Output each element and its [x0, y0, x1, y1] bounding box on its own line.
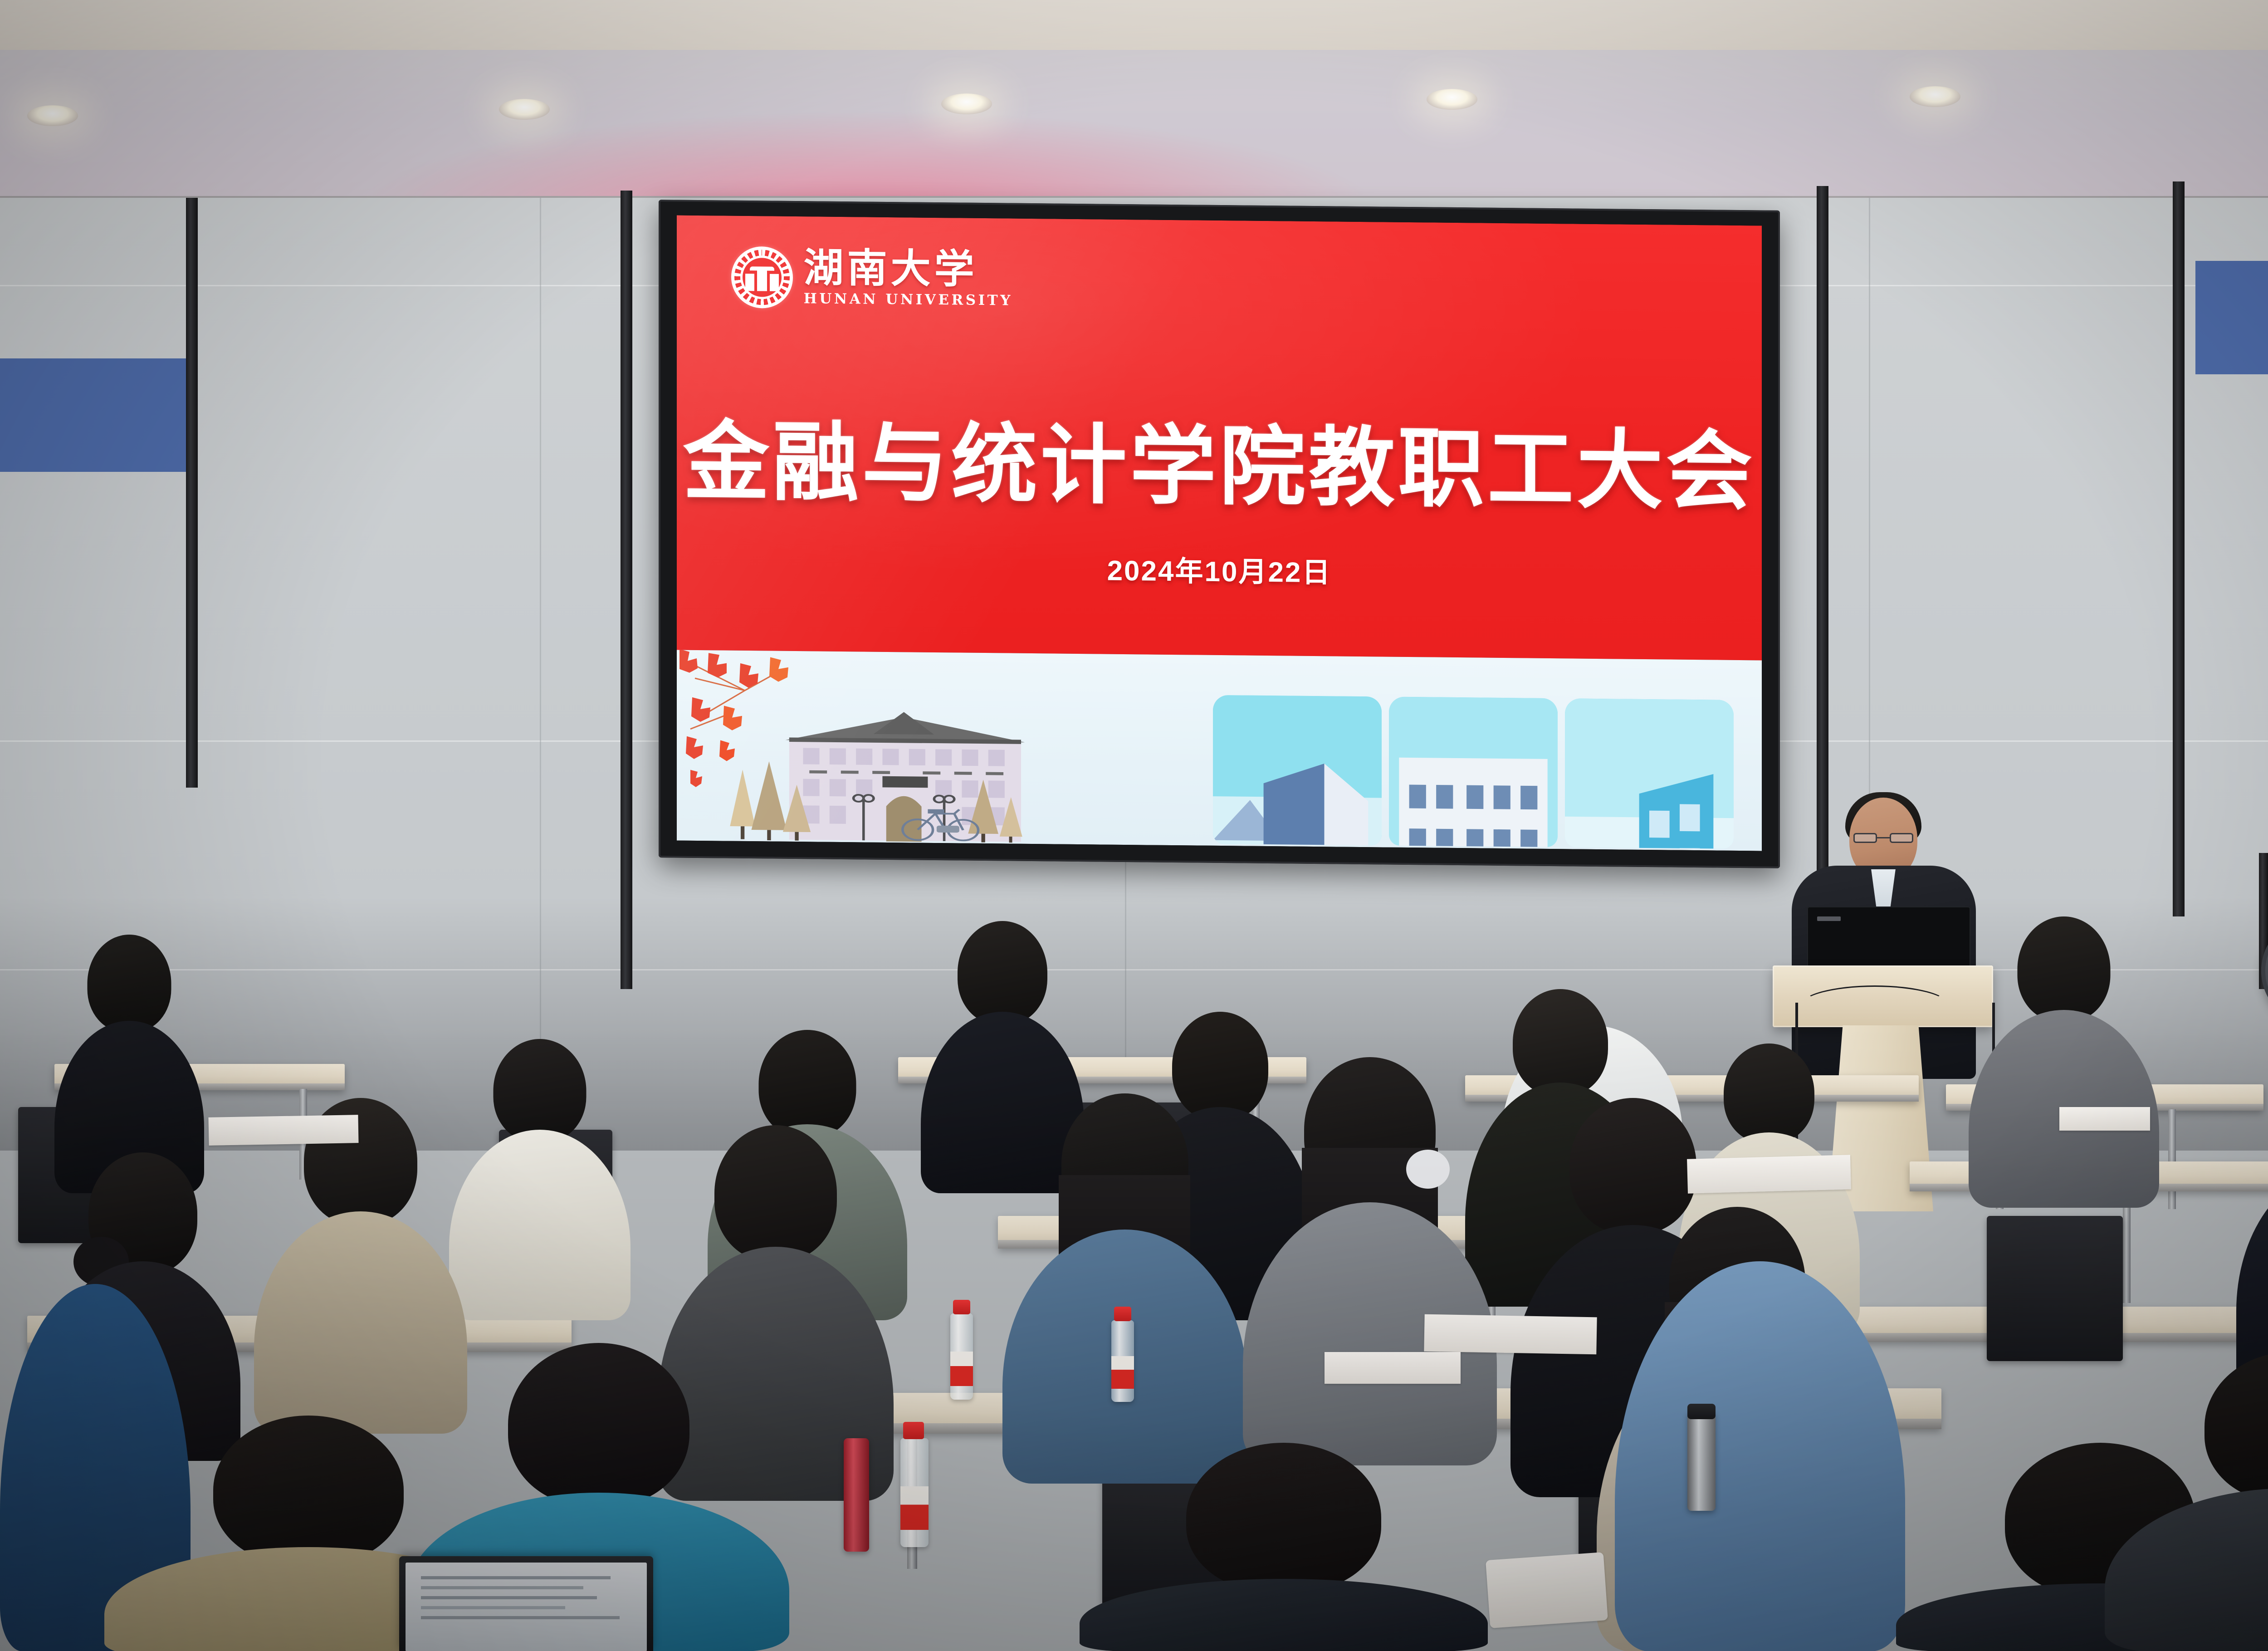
attendee-head	[88, 935, 171, 1032]
desk-leg	[2168, 1109, 2176, 1209]
slide-illustration-panel	[677, 650, 1762, 851]
attendee	[1615, 1261, 1905, 1651]
attendee	[54, 935, 204, 1189]
water-bottle[interactable]	[900, 1438, 929, 1547]
foreground-laptop[interactable]	[399, 1556, 653, 1651]
speaker-glasses-icon	[1853, 833, 1913, 843]
ceiling-upper-slab	[0, 0, 2268, 54]
attendee-head	[508, 1343, 689, 1506]
microphone-cable	[1800, 985, 1950, 1026]
screen-display-area: 湖南大学 HUNAN UNIVERSITY 金融与统计学院教职工大会 2024年…	[677, 216, 1762, 851]
ceiling-downlight	[1427, 89, 1477, 110]
attendee-head	[1186, 1443, 1381, 1592]
speaker-laptop[interactable]	[1807, 906, 1970, 971]
presentation-slide: 湖南大学 HUNAN UNIVERSITY 金融与统计学院教职工大会 2024年…	[677, 216, 1762, 851]
crest-building-glyph	[745, 265, 779, 291]
bottle-cap	[903, 1422, 924, 1439]
bottle-label	[900, 1486, 929, 1530]
attendee-torso	[1615, 1261, 1905, 1651]
lecture-hall-photo: 湖南大学 HUNAN UNIVERSITY 金融与统计学院教职工大会 2024年…	[0, 0, 2268, 1651]
wall-accent-band-right	[2195, 261, 2268, 374]
ceiling-downlight	[27, 105, 78, 126]
attendee-head	[213, 1416, 404, 1565]
water-bottle[interactable]	[1111, 1320, 1134, 1402]
slide-red-panel: 湖南大学 HUNAN UNIVERSITY 金融与统计学院教职工大会 2024年…	[677, 216, 1762, 661]
laptop-logo	[1817, 916, 1841, 921]
wall-trim-pillar	[186, 198, 198, 788]
document-sheet	[1424, 1314, 1597, 1355]
attendee	[1002, 1093, 1247, 1484]
photo-card-academic-block	[1389, 697, 1558, 847]
bottle-cap	[953, 1300, 970, 1314]
projection-screen[interactable]: 湖南大学 HUNAN UNIVERSITY 金融与统计学院教职工大会 2024年…	[659, 200, 1780, 868]
attendee-torso	[1080, 1579, 1488, 1651]
logo-chinese-text: 湖南大学	[804, 249, 1013, 289]
attendee-head	[759, 1030, 856, 1138]
hunan-university-crest-icon	[731, 246, 793, 309]
attendee	[449, 1039, 631, 1320]
ceiling-downlight	[941, 93, 992, 114]
attendee-foreground	[1080, 1443, 1488, 1651]
university-logo: 湖南大学 HUNAN UNIVERSITY	[731, 246, 1013, 311]
document-sheet	[1687, 1155, 1851, 1193]
bottle-cap	[1114, 1307, 1131, 1321]
document-sheet	[2059, 1107, 2150, 1131]
wall-trim-pillar	[2173, 181, 2185, 916]
attendee-head	[958, 921, 1047, 1024]
red-vacuum-flask[interactable]	[844, 1438, 869, 1552]
attendee	[1243, 1057, 1497, 1465]
tissue-pack	[1486, 1552, 1608, 1628]
attendee	[2236, 1080, 2268, 1397]
campus-building-illustration	[715, 703, 1105, 844]
logo-english-text: HUNAN UNIVERSITY	[804, 290, 1013, 309]
attendee-head	[2018, 916, 2111, 1022]
wall-trim-pillar	[621, 191, 632, 989]
flask-lid	[1687, 1404, 1716, 1419]
attendee-head	[714, 1125, 837, 1261]
laptop-screen	[406, 1563, 647, 1651]
campus-photo-cards	[1213, 695, 1734, 849]
attendee-head	[2204, 1352, 2268, 1502]
photo-card-glass-tower	[1565, 698, 1734, 848]
attendee	[1969, 916, 2159, 1207]
attendee-torso	[2105, 1488, 2268, 1651]
attendee-head	[1513, 989, 1608, 1096]
ceiling-soffit	[0, 50, 2268, 200]
bottle-label	[1111, 1356, 1134, 1389]
silver-vacuum-flask[interactable]	[1687, 1411, 1716, 1511]
attendee-head	[494, 1039, 587, 1142]
wall-accent-band-left	[0, 358, 191, 472]
hair-tie	[1406, 1150, 1450, 1189]
bottle-label	[950, 1352, 973, 1386]
document-sheet	[208, 1115, 358, 1146]
photo-card-modern-building	[1213, 695, 1382, 845]
attendee-foreground	[2105, 1352, 2268, 1651]
slide-date: 2024年10月22日	[677, 544, 1762, 595]
slide-title: 金融与统计学院教职工大会	[677, 391, 1762, 526]
document-sheet	[1325, 1352, 1461, 1384]
ceiling-downlight	[499, 99, 550, 120]
chair-back[interactable]	[1987, 1216, 2123, 1361]
attendee-torso	[449, 1130, 631, 1320]
ceiling-downlight	[1910, 86, 1960, 107]
water-bottle[interactable]	[950, 1313, 973, 1400]
